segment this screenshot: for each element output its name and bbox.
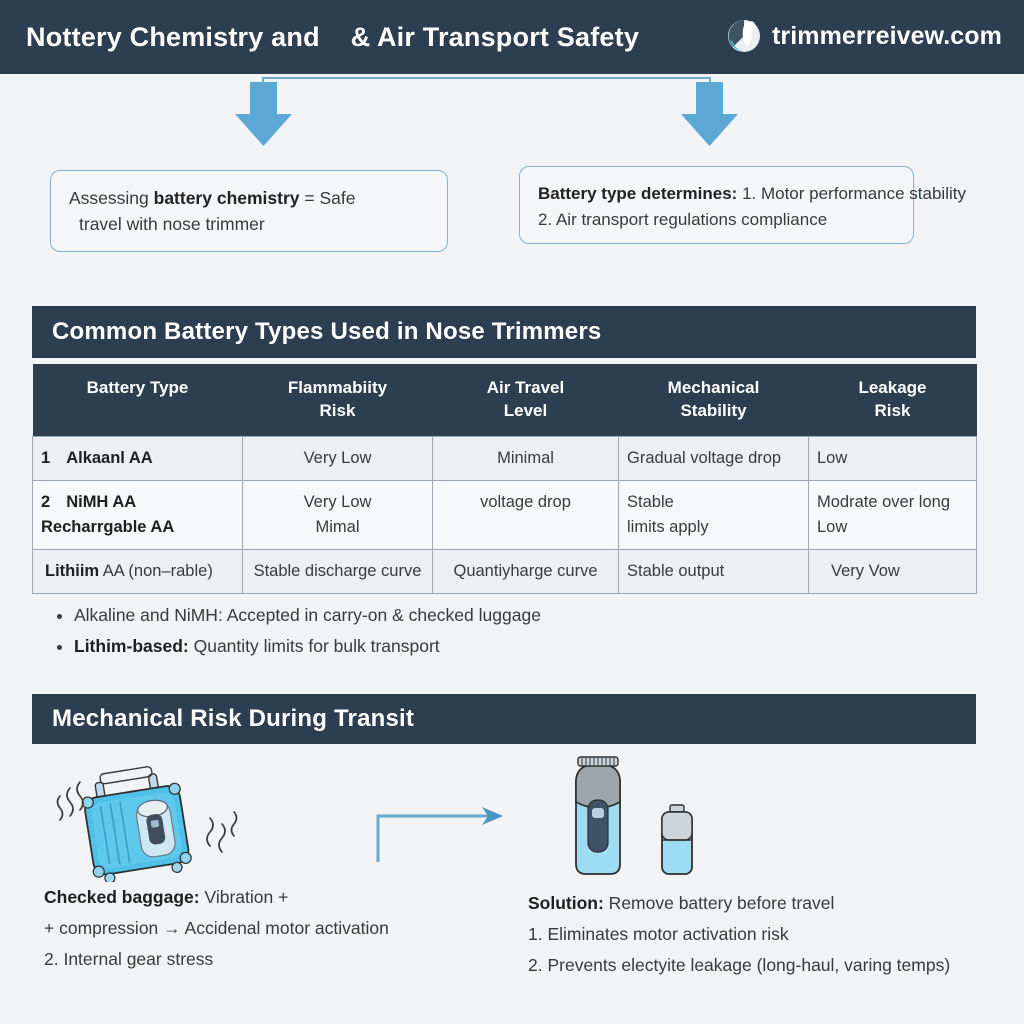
table-header-row: Battery Type Flammabiity Risk Air Travel… (33, 364, 977, 437)
callout-2-tail: 1. Motor performance stability (737, 184, 966, 203)
table-row: 1Alkaanl AA Very Low Minimal Gradual vol… (33, 437, 977, 481)
cell-flammability: Stable discharge curve (243, 550, 433, 594)
row-index: 1 (41, 449, 66, 467)
battery-name: Lithiim (45, 562, 99, 580)
leakage-head-line2: Risk (875, 401, 911, 420)
list-item: Alkaline and NiMH: Accepted in carry-on … (74, 600, 752, 631)
callout-2-line-2: 2. Air transport regulations compliance (538, 207, 897, 233)
left-caption-line-2: + compression → Accidenal motor activati… (44, 913, 514, 944)
page-header: Nottery Chemistry and & Air Transport Sa… (0, 0, 1024, 74)
right-caption-line-3: 2. Prevents electyite leakage (long-haul… (528, 950, 1024, 981)
down-arrow-right-icon (681, 82, 738, 146)
battery-name: Alkaanl AA (66, 449, 153, 467)
table-section-banner: Common Battery Types Used in Nose Trimme… (32, 306, 976, 358)
column-header-battery-type: Battery Type (33, 364, 243, 437)
callout-2-emphasis: Battery type determines: (538, 184, 737, 203)
list-item: Lithim-based: Quantity limits for bulk t… (74, 631, 752, 662)
trimmer-and-battery-icon (558, 752, 728, 882)
down-arrow-left-icon (235, 82, 292, 146)
cell-air-travel: Quantiyharge curve (433, 550, 619, 594)
cell-mechanical: Stable output (619, 550, 809, 594)
callout-battery-type: Battery type determines: 1. Motor perfor… (519, 166, 914, 244)
table-row: Lithiim AA (non–rable) Stable discharge … (33, 550, 977, 594)
air-travel-bullets: Alkaline and NiMH: Accepted in carry-on … (52, 600, 752, 662)
solution-caption: Solution: Remove battery before travel 1… (528, 888, 1024, 981)
brand: trimmerreivew.com (726, 18, 1002, 54)
row-index: 2 (41, 493, 66, 511)
air-travel-head-line1: Air Travel (487, 378, 565, 397)
flammability-head-line2: Risk (320, 401, 356, 420)
brand-name: trimmerreivew.com (772, 22, 1002, 51)
battery-name-rest: AA (non–rable) (99, 562, 213, 580)
cell-leakage: Very Vow (809, 550, 977, 594)
cell-battery-type: Lithiim AA (non–rable) (33, 550, 243, 594)
mechanical-head-line2: Stability (680, 401, 746, 420)
column-header-leakage-risk: Leakage Risk (809, 364, 977, 437)
table-row: 2NiMH AA Recharrgable AA Very Low Mimal … (33, 481, 977, 550)
leakage-head-line1: Leakage (858, 378, 926, 397)
cell-flammability: Very Low (243, 437, 433, 481)
left-caption-line-3: 2. Internal gear stress (44, 944, 514, 975)
mechanical-head-line1: Mechanical (668, 378, 760, 397)
column-header-mechanical-stability: Mechanical Stability (619, 364, 809, 437)
infographic-page: Nottery Chemistry and & Air Transport Sa… (0, 0, 1024, 1024)
callout-1-line-1: Assessing battery chemistry = Safe (69, 185, 431, 211)
callout-1-line-2: travel with nose trimmer (69, 211, 431, 237)
battery-name: NiMH AA (66, 493, 136, 511)
callout-2-line-1: Battery type determines: 1. Motor perfor… (538, 181, 897, 207)
cell-leakage: Low (809, 437, 977, 481)
checked-baggage-caption: Checked baggage: Vibration + + compressi… (44, 882, 514, 975)
page-title: Nottery Chemistry and & Air Transport Sa… (26, 22, 639, 53)
right-caption-line-1: Solution: Remove battery before travel (528, 888, 1024, 919)
right-caption-line-2: 1. Eliminates motor activation risk (528, 919, 1024, 950)
cell-air-travel: voltage drop (433, 481, 619, 550)
callout-battery-chemistry: Assessing battery chemistry = Safe trave… (50, 170, 448, 252)
mechanical-section-banner: Mechanical Risk During Transit (32, 694, 976, 744)
callout-1-tail: = Safe (300, 188, 356, 208)
callout-1-emphasis: battery chemistry (154, 188, 300, 208)
left-caption-line-1: Checked baggage: Vibration + (44, 882, 514, 913)
cell-battery-type: 2NiMH AA Recharrgable AA (33, 481, 243, 550)
right-arrow-icon (370, 806, 520, 868)
column-header-flammability-risk: Flammabiity Risk (243, 364, 433, 437)
air-travel-head-line2: Level (504, 401, 547, 420)
vibrating-suitcase-icon (52, 762, 262, 882)
cell-mechanical: Stable limits apply (619, 481, 809, 550)
column-header-air-travel-level: Air Travel Level (433, 364, 619, 437)
cell-battery-type: 1Alkaanl AA (33, 437, 243, 481)
circle-leaf-logo-icon (726, 18, 762, 54)
battery-types-table: Battery Type Flammabiity Risk Air Travel… (32, 364, 977, 594)
cell-air-travel: Minimal (433, 437, 619, 481)
cell-leakage: Modrate over long Low (809, 481, 977, 550)
cell-mechanical: Gradual voltage drop (619, 437, 809, 481)
connector-arrows (0, 74, 1024, 164)
battery-name-sub: Recharrgable AA (41, 515, 234, 540)
callout-1-lead: Assessing (69, 188, 154, 208)
flammability-head-line1: Flammabiity (288, 378, 387, 397)
cell-flammability: Very Low Mimal (243, 481, 433, 550)
